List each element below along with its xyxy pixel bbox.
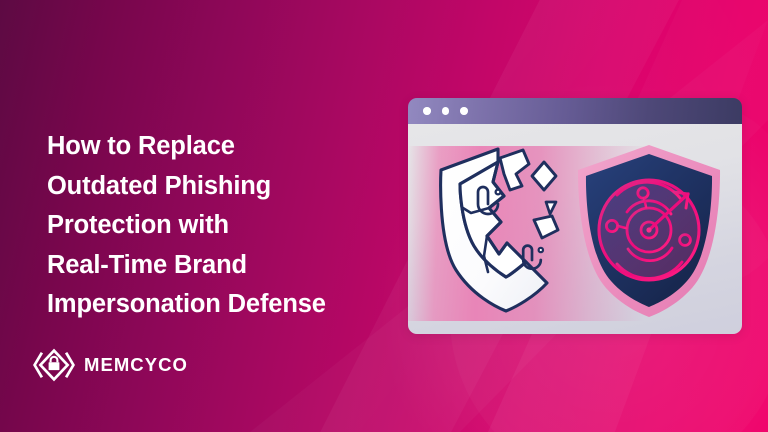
headline-line-5: Impersonation Defense — [47, 285, 402, 325]
shield-radar-icon — [570, 142, 728, 320]
headline-line-3: Protection with — [47, 206, 402, 246]
browser-content-area — [408, 124, 742, 334]
brand-wordmark: MEMCYCO — [84, 356, 188, 375]
illustration-artwork — [408, 124, 742, 334]
window-dot-icon — [442, 107, 450, 115]
browser-titlebar — [408, 98, 742, 124]
window-dot-icon — [460, 107, 468, 115]
diamond-lock-brackets-icon — [33, 347, 75, 383]
window-dot-icon — [423, 107, 431, 115]
broken-shield-with-hooks-icon — [430, 144, 576, 316]
headline-line-4: Real-Time Brand — [47, 246, 402, 286]
brand-logo[interactable]: MEMCYCO — [33, 347, 188, 383]
banner-canvas: How to Replace Outdated Phishing Protect… — [0, 0, 768, 432]
browser-window-illustration — [408, 98, 742, 334]
page-title: How to Replace Outdated Phishing Protect… — [47, 127, 402, 325]
headline-line-1: How to Replace — [47, 127, 402, 167]
headline-line-2: Outdated Phishing — [47, 167, 402, 207]
